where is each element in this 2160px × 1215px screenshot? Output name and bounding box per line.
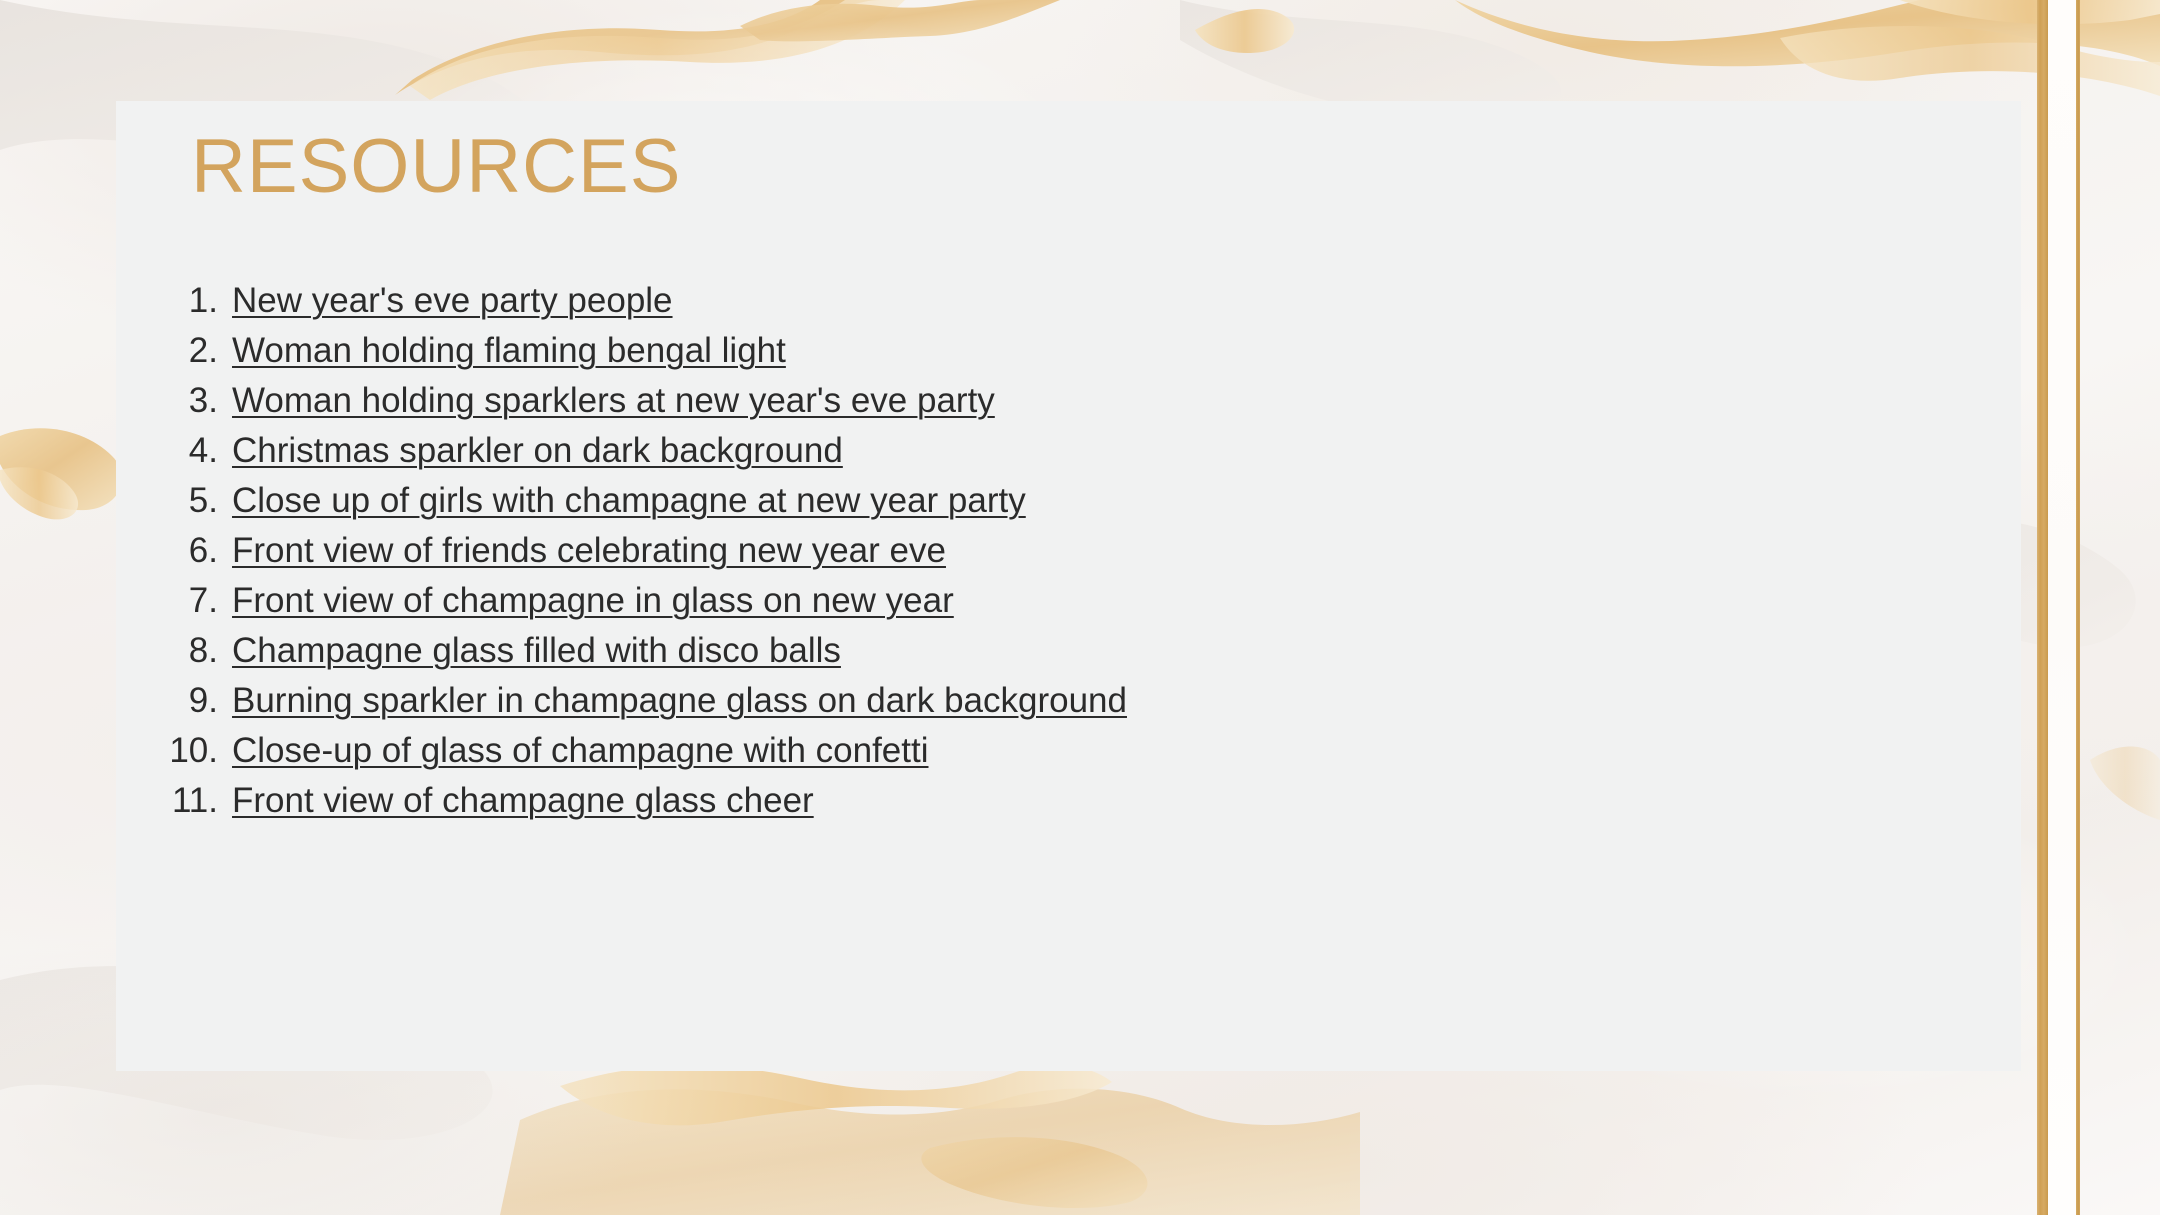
- gold-rule-gap: [2048, 0, 2076, 1215]
- resource-link[interactable]: Woman holding flaming bengal light: [232, 331, 786, 371]
- list-item-number: 6.: [116, 531, 232, 571]
- list-item-number: 5.: [116, 481, 232, 521]
- page-title: RESOURCES: [191, 125, 681, 209]
- list-item[interactable]: 11. Front view of champagne glass cheer: [116, 781, 2021, 831]
- resource-link[interactable]: Woman holding sparklers at new year's ev…: [232, 381, 995, 421]
- list-item[interactable]: 6. Front view of friends celebrating new…: [116, 531, 2021, 581]
- resources-list: 1. New year's eve party people 2. Woman …: [116, 281, 2021, 831]
- resource-link[interactable]: New year's eve party people: [232, 281, 673, 321]
- list-item-number: 9.: [116, 681, 232, 721]
- list-item[interactable]: 4. Christmas sparkler on dark background: [116, 431, 2021, 481]
- list-item[interactable]: 7. Front view of champagne in glass on n…: [116, 581, 2021, 631]
- list-item[interactable]: 5. Close up of girls with champagne at n…: [116, 481, 2021, 531]
- resource-link[interactable]: Close up of girls with champagne at new …: [232, 481, 1026, 521]
- list-item[interactable]: 10. Close-up of glass of champagne with …: [116, 731, 2021, 781]
- resource-link[interactable]: Christmas sparkler on dark background: [232, 431, 843, 471]
- list-item-number: 8.: [116, 631, 232, 671]
- resource-link[interactable]: Burning sparkler in champagne glass on d…: [232, 681, 1127, 721]
- resource-link[interactable]: Front view of champagne in glass on new …: [232, 581, 954, 621]
- resource-link[interactable]: Champagne glass filled with disco balls: [232, 631, 841, 671]
- resource-link[interactable]: Front view of champagne glass cheer: [232, 781, 814, 821]
- resource-link[interactable]: Front view of friends celebrating new ye…: [232, 531, 946, 571]
- gold-vertical-rule-thin: [2076, 0, 2080, 1215]
- list-item-number: 11.: [116, 781, 232, 821]
- list-item-number: 10.: [116, 731, 232, 771]
- gold-vertical-rule-thick: [2037, 0, 2048, 1215]
- list-item[interactable]: 2. Woman holding flaming bengal light: [116, 331, 2021, 381]
- list-item-number: 2.: [116, 331, 232, 371]
- content-panel: RESOURCES 1. New year's eve party people…: [116, 101, 2021, 1071]
- list-item-number: 4.: [116, 431, 232, 471]
- list-item-number: 1.: [116, 281, 232, 321]
- resource-link[interactable]: Close-up of glass of champagne with conf…: [232, 731, 929, 771]
- list-item[interactable]: 3. Woman holding sparklers at new year's…: [116, 381, 2021, 431]
- list-item[interactable]: 1. New year's eve party people: [116, 281, 2021, 331]
- list-item-number: 7.: [116, 581, 232, 621]
- list-item[interactable]: 9. Burning sparkler in champagne glass o…: [116, 681, 2021, 731]
- list-item[interactable]: 8. Champagne glass filled with disco bal…: [116, 631, 2021, 681]
- slide: RESOURCES 1. New year's eve party people…: [0, 0, 2160, 1215]
- list-item-number: 3.: [116, 381, 232, 421]
